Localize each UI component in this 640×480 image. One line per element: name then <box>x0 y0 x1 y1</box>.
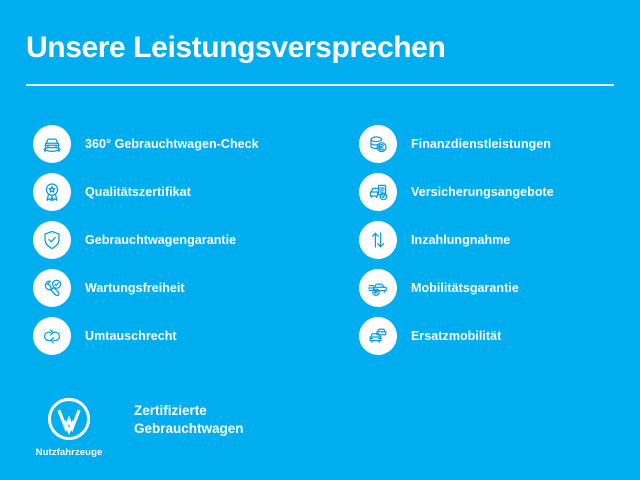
coins-euro-icon <box>359 125 397 163</box>
list-item[interactable]: Wartungsfreiheit <box>33 268 259 308</box>
car-speed-check-icon <box>359 269 397 307</box>
shield-check-icon <box>33 221 71 259</box>
page-title: Unsere Leistungsversprechen <box>26 31 445 64</box>
list-item-label: Wartungsfreiheit <box>85 281 185 295</box>
feature-list-right: Finanzdienstleistungen Versicherungsange… <box>359 124 554 364</box>
footer-headline: Zertifizierte Gebrauchtwagen <box>134 402 244 438</box>
list-item-label: Ersatzmobilität <box>411 329 501 343</box>
wrench-check-icon <box>33 269 71 307</box>
list-item[interactable]: Gebrauchtwagengarantie <box>33 220 259 260</box>
title-divider <box>26 84 614 86</box>
list-item-label: Mobilitätsgarantie <box>411 281 519 295</box>
list-item[interactable]: Versicherungsangebote <box>359 172 554 212</box>
list-item-label: Inzahlungnahme <box>411 233 510 247</box>
quality-seal-icon <box>33 173 71 211</box>
list-item[interactable]: Umtauschrecht <box>33 316 259 356</box>
list-item-label: Gebrauchtwagengarantie <box>85 233 236 247</box>
vw-logo-subtitle: Nutzfahrzeuge <box>36 447 103 458</box>
car-360-check-icon <box>33 125 71 163</box>
two-cars-icon <box>359 317 397 355</box>
list-item[interactable]: Qualitätszertifikat <box>33 172 259 212</box>
list-item[interactable]: Finanzdienstleistungen <box>359 124 554 164</box>
list-item-label: Finanzdienstleistungen <box>411 137 551 151</box>
feature-list-left: 360° Gebrauchtwagen-Check Qualitätszerti… <box>33 124 259 364</box>
footer-headline-line1: Zertifizierte <box>134 402 244 420</box>
vw-logo-block: Nutzfahrzeuge <box>32 396 106 458</box>
list-item-label: 360° Gebrauchtwagen-Check <box>85 137 259 151</box>
list-item[interactable]: Ersatzmobilität <box>359 316 554 356</box>
up-down-arrows-icon <box>359 221 397 259</box>
footer-headline-line2: Gebrauchtwagen <box>134 420 244 438</box>
list-item-label: Qualitätszertifikat <box>85 185 191 199</box>
exchange-arrows-icon <box>33 317 71 355</box>
slide-canvas: Unsere Leistungsversprechen 360° Gebrauc… <box>0 0 640 480</box>
vw-logo-icon <box>46 396 92 442</box>
list-item-label: Umtauschrecht <box>85 329 177 343</box>
list-item[interactable]: Inzahlungnahme <box>359 220 554 260</box>
car-document-check-icon <box>359 173 397 211</box>
footer-logo-lockup: Nutzfahrzeuge Zertifizierte Gebrauchtwag… <box>32 396 244 458</box>
list-item[interactable]: 360° Gebrauchtwagen-Check <box>33 124 259 164</box>
list-item[interactable]: Mobilitätsgarantie <box>359 268 554 308</box>
list-item-label: Versicherungsangebote <box>411 185 554 199</box>
